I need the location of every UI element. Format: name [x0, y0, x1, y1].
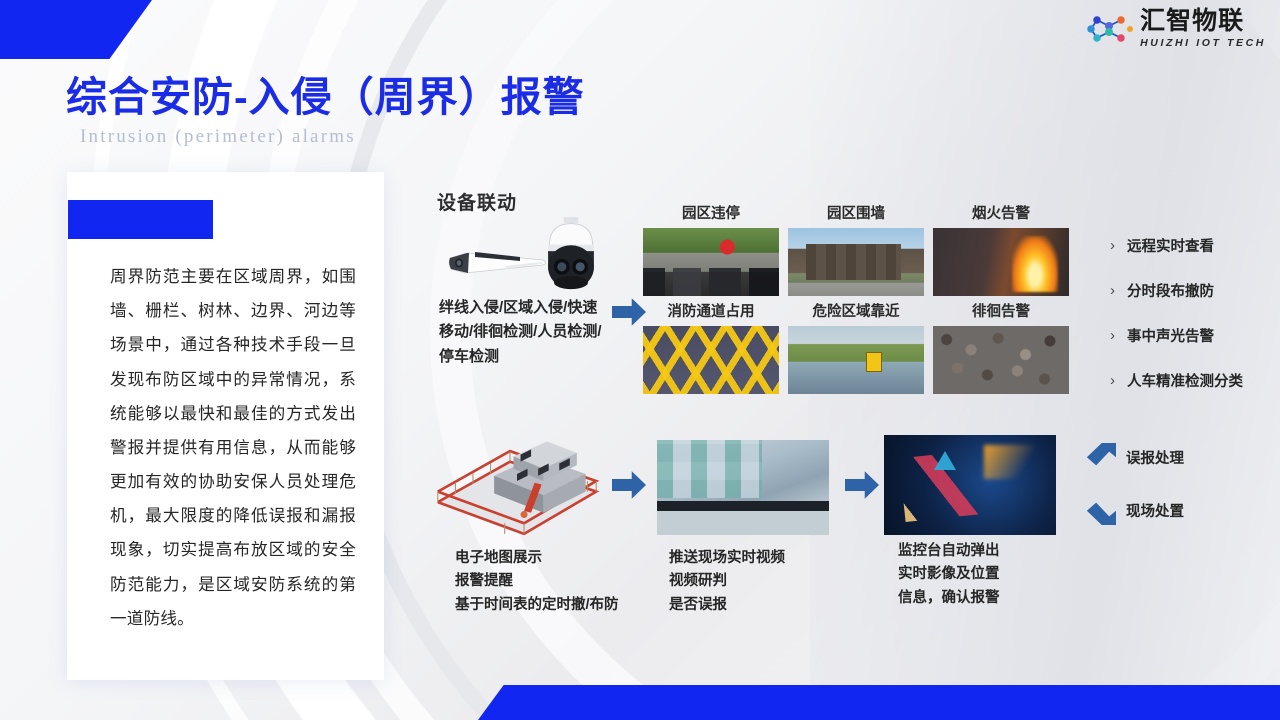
- outcome-label-onsite: 现场处置: [1126, 500, 1184, 521]
- feature-item: › 分时段布撤防: [1110, 280, 1243, 301]
- console-popup-alert-photo: [884, 435, 1056, 535]
- brand-logo: 汇智物联 HUIZHI IOT TECH: [1087, 9, 1266, 49]
- card-body-text: 周界防范主要在区域周界，如围墙、栅栏、树林、边界、河边等场景中，通过各种技术手段…: [110, 260, 356, 636]
- chevron-right-icon: ›: [1110, 283, 1115, 298]
- brand-name-cn: 汇智物联: [1140, 9, 1266, 34]
- scene-label: 徘徊告警: [933, 296, 1069, 326]
- feature-list: › 远程实时查看 › 分时段布撤防 › 事中声光告警 › 人车精准检测分类: [1110, 235, 1243, 391]
- scene-label: 园区违停: [643, 207, 779, 228]
- feature-item: › 人车精准检测分类: [1110, 370, 1243, 391]
- chevron-right-icon: ›: [1110, 238, 1115, 253]
- video-wall-room-photo: [657, 440, 829, 535]
- scene-grid: 园区违停 园区围墙 烟火告警 消防通道占用 危险区域靠近 徘徊告警: [643, 207, 1069, 394]
- feature-item: › 远程实时查看: [1110, 235, 1243, 256]
- warning-triangle-icon: [934, 451, 956, 470]
- chevron-right-icon: ›: [1110, 328, 1115, 343]
- feature-label: 人车精准检测分类: [1127, 370, 1243, 391]
- info-card: 周界防范主要在区域周界，如围墙、栅栏、树林、边界、河边等场景中，通过各种技术手段…: [67, 172, 384, 680]
- scene-label: 消防通道占用: [643, 296, 779, 326]
- loitering-alarm-photo: [933, 326, 1069, 394]
- map-caption: 电子地图展示报警提醒基于时间表的定时撤/布防: [455, 547, 619, 617]
- scene-label: 烟火告警: [933, 207, 1069, 228]
- feature-label: 远程实时查看: [1127, 235, 1214, 256]
- arrow-right-icon-cameras-to-scenes: [612, 297, 646, 327]
- hazard-zone-approach-photo: [788, 326, 924, 394]
- arrow-right-icon-map-to-video: [612, 470, 646, 500]
- camera-caption: 绊线入侵/区域入侵/快速移动/徘徊检测/人员检测/停车检测: [439, 296, 607, 369]
- page-subtitle: Intrusion (perimeter) alarms: [80, 126, 356, 148]
- slide-canvas: 综合安防-入侵（周界）报警 Intrusion (perimeter) alar…: [0, 0, 1280, 720]
- brand-name-en: HUIZHI IOT TECH: [1140, 38, 1266, 49]
- footer-accent-band: [478, 685, 1280, 720]
- outcome-label-misreport: 误报处理: [1126, 447, 1184, 468]
- electronic-map-3d-illustration: [428, 430, 606, 540]
- parking-violation-photo: [643, 228, 779, 296]
- fire-smoke-alarm-photo: [933, 228, 1069, 296]
- section-heading: 设备联动: [437, 188, 517, 215]
- ptz-dome-camera-icon: [535, 217, 607, 297]
- scene-label: 危险区域靠近: [788, 296, 924, 326]
- corner-accent-top-left: [0, 0, 152, 59]
- camera-group: [425, 215, 595, 295]
- card-accent-bar: [68, 200, 213, 239]
- molecule-network-icon: [1087, 9, 1133, 49]
- perimeter-wall-photo: [788, 228, 924, 296]
- fire-lane-occupied-photo: [643, 326, 779, 394]
- feature-label: 分时段布撤防: [1127, 280, 1214, 301]
- feature-item: › 事中声光告警: [1110, 325, 1243, 346]
- scene-label: 园区围墙: [788, 207, 924, 228]
- console-caption: 监控台自动弹出实时影像及位置信息，确认报警: [898, 540, 1000, 610]
- feature-label: 事中声光告警: [1127, 325, 1214, 346]
- page-title: 综合安防-入侵（周界）报警: [66, 63, 585, 123]
- video-caption: 推送现场实时视频视频研判是否误报: [669, 547, 785, 617]
- chevron-right-icon: ›: [1110, 373, 1115, 388]
